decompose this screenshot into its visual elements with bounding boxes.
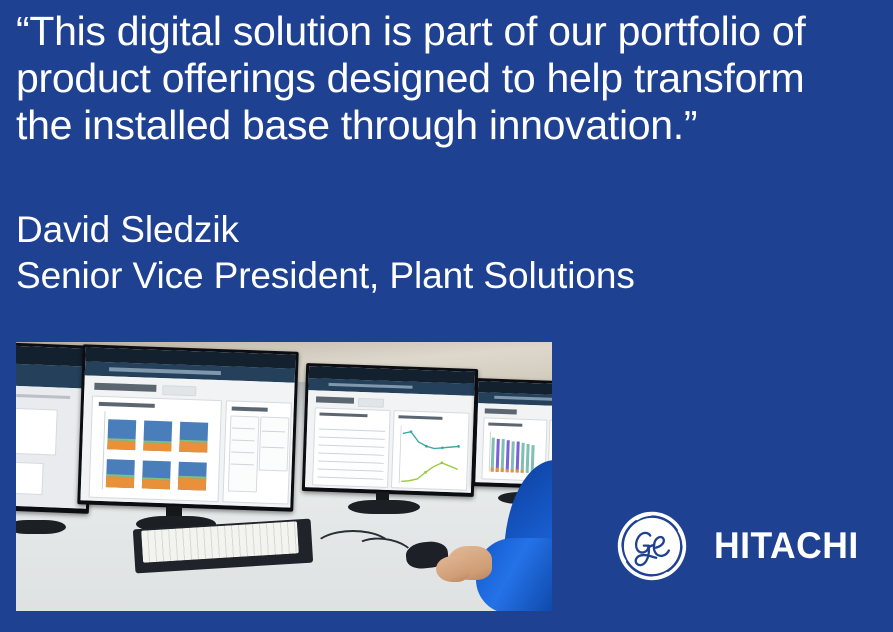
photo-bar-chart [104,453,213,491]
photo-row-divider [318,461,384,464]
photo-bar [143,420,172,451]
quote-line-2: product offerings designed to help trans… [16,55,866,102]
photo-bar [526,444,530,473]
photo-row-divider [318,445,384,448]
photo-bar [179,422,208,453]
photo-panel-activities [89,396,222,502]
photo-row-divider [317,476,383,479]
photo-monitor-base [348,500,420,514]
photo-row-divider [319,429,385,432]
photo-panel-title [398,415,442,420]
photo-bar-chart [105,413,214,453]
photo-row-divider [318,468,384,471]
quote-line-3: the installed base through innovation.” [16,102,866,149]
attribution-name: David Sledzik [16,207,635,253]
photo-row-divider [318,453,384,456]
photo-bar [142,460,171,489]
slide-root: “This digital solution is part of our po… [0,0,893,632]
quote-attribution: David Sledzik Senior Vice President, Pla… [16,207,635,299]
photo-panel-title [232,407,268,412]
attribution-title: Senior Vice President, Plant Solutions [16,253,635,299]
photo-monitor-3 [302,363,478,497]
control-room-photo [16,342,552,611]
photo-panel-title [319,413,367,418]
photo-bar [496,439,500,472]
photo-bar [506,440,510,472]
photo-bar [107,419,136,450]
photo-bar [501,439,505,472]
photo-line-chart [395,423,467,487]
photo-dashboard-title [316,396,354,403]
photo-monitor-3-screen [305,366,475,493]
photo-filter-chip [358,398,384,408]
photo-filter-chip [162,385,196,396]
photo-bar [178,462,207,491]
photo-panel-title [99,402,155,408]
ge-monogram-icon [616,510,688,582]
photo-panel-threat-trend [391,410,470,491]
photo-panel-title [488,423,522,427]
hitachi-wordmark: HITACHI [714,526,859,566]
photo-panel-schedule [222,400,292,504]
photo-bar [491,438,495,472]
photo-panel-threat-table [312,407,391,488]
photo-row-divider [319,437,385,440]
photo-screen-card [16,461,44,495]
photo-bar [511,441,515,472]
logo-lockup: HITACHI [616,510,878,585]
photo-subpanel [259,417,290,472]
photo-bar [521,443,525,473]
photo-bar [516,442,520,473]
photo-person-hand [436,556,470,582]
photo-bar [106,459,135,488]
photo-monitor-2 [77,344,298,511]
photo-monitor-base [16,520,66,534]
photo-screen-subbar [16,363,91,389]
pull-quote: “This digital solution is part of our po… [16,8,866,149]
quote-line-1: “This digital solution is part of our po… [16,8,866,55]
photo-screen-card [16,407,58,455]
photo-dashboard-title [485,408,517,414]
photo-monitor-2-screen [80,347,295,507]
